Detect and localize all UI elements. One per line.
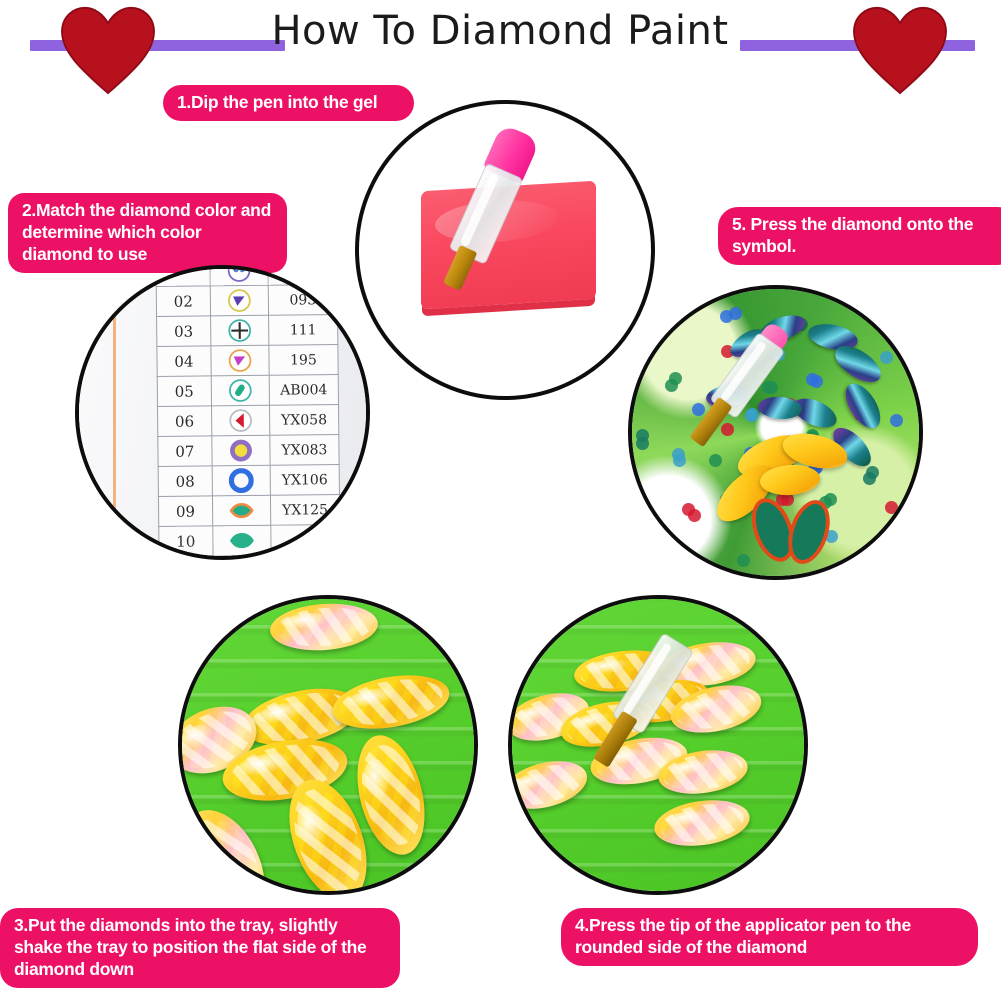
left-chevron-icon: [211, 405, 269, 436]
table-row: 06YX058: [158, 405, 339, 437]
chart-row-number: 02: [156, 286, 210, 317]
table-row: 10: [159, 525, 340, 556]
chart-row-code: 195: [269, 345, 338, 376]
double-dot-icon: [210, 269, 268, 286]
chart-row-number: 06: [158, 406, 212, 437]
canvas-symbol-dot: [729, 307, 742, 320]
canvas-symbol-dot: [885, 501, 898, 514]
step-4-photo-pen-picks-diamond: [508, 595, 808, 895]
step-3-label: 3.Put the diamonds into the tray, slight…: [0, 908, 400, 988]
leaf-icon: [212, 495, 270, 526]
chart-row-code: AB004: [269, 375, 338, 406]
infographic-canvas: How To Diamond Paint 1.Dip the pen into …: [0, 0, 1001, 1001]
filled-triangle-icon: [211, 345, 269, 376]
pen-tip: [443, 245, 477, 291]
table-row: 08YX106: [158, 465, 339, 497]
chart-row-code: 026: [268, 269, 337, 285]
canvas-symbol-dot: [737, 554, 750, 567]
table-row: 09YX125: [158, 495, 339, 527]
plus-cross-icon: [210, 315, 268, 346]
step-2-label: 2.Match the diamond color and determine …: [8, 193, 287, 273]
step-5-photo-press-onto-symbol: [628, 285, 923, 580]
heart-icon: [60, 5, 156, 95]
chart-row-code: [271, 525, 340, 556]
step-1-photo-pen-into-gel: [355, 100, 655, 400]
heart-icon: [852, 5, 948, 95]
chart-row-number: 04: [157, 346, 211, 377]
chart-row-code: 111: [268, 315, 337, 346]
chart-row-code: YX083: [270, 435, 339, 466]
table-row: 07YX083: [158, 435, 339, 467]
ring-icon: [212, 465, 270, 496]
chart-row-number: 03: [157, 316, 211, 347]
chart-row-number: [156, 269, 210, 286]
chart-row-code: YX058: [269, 405, 338, 436]
step-2-photo-color-chart: 02602093031110419505AB00406YX05807YX0830…: [75, 265, 370, 560]
paper-edge-line: [113, 269, 116, 556]
chart-row-number: 09: [158, 496, 212, 527]
filled-triangle-icon: [210, 285, 268, 316]
page-title: How To Diamond Paint: [250, 8, 750, 54]
slanted-capsule-icon: [211, 375, 269, 406]
canvas-symbol-dot: [636, 429, 649, 442]
color-symbol-table: 02602093031110419505AB00406YX05807YX0830…: [155, 269, 340, 556]
table-row: 026: [156, 269, 337, 286]
table-row: 04195: [157, 345, 338, 377]
table-row: 05AB004: [157, 375, 338, 407]
chart-row-code: YX106: [270, 465, 339, 496]
table-row: 03111: [157, 315, 338, 347]
chart-row-number: 08: [158, 466, 212, 497]
chart-row-code: 093: [268, 285, 337, 316]
chart-row-number: 10: [159, 526, 213, 556]
step-5-label: 5. Press the diamond onto the symbol.: [718, 207, 1001, 265]
leaf-icon: [213, 525, 271, 556]
canvas-symbol-dot: [880, 351, 893, 364]
filled-disc-icon: [212, 435, 270, 466]
chart-row-number: 05: [157, 376, 211, 407]
canvas-symbol-dot: [672, 448, 685, 461]
table-row: 02093: [156, 285, 337, 317]
chart-row-code: YX125: [270, 495, 339, 526]
step-4-label: 4.Press the tip of the applicator pen to…: [561, 908, 978, 966]
step-3-photo-diamonds-in-tray: [178, 595, 478, 895]
canvas-symbol-dot: [825, 530, 838, 543]
chart-row-number: 07: [158, 436, 212, 467]
